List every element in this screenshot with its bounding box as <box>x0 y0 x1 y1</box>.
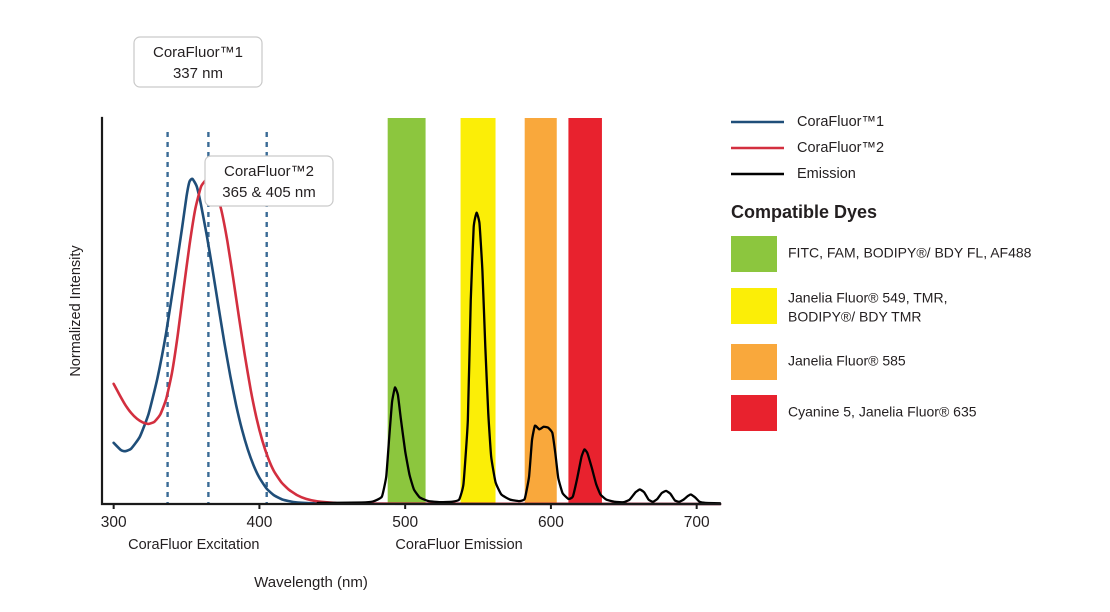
dye-swatch <box>731 236 777 272</box>
dye-item: Cyanine 5, Janelia Fluor® 635 <box>731 395 977 431</box>
dye-swatch <box>731 344 777 380</box>
callout-line1: CoraFluor™2 <box>224 163 314 180</box>
legend-item: CoraFluor™2 <box>731 140 884 156</box>
dye-swatch <box>731 288 777 324</box>
curve-emission <box>318 213 720 504</box>
dye-item: Janelia Fluor® 549, TMR,BODIPY®/ BDY TMR <box>731 288 947 325</box>
xtick-label-700: 700 <box>684 514 710 531</box>
callout-corafluor1: CoraFluor™1337 nm <box>134 37 262 87</box>
x-axis-title: Wavelength (nm) <box>254 574 368 591</box>
callout-line2: 337 nm <box>173 65 223 82</box>
xtick-label-600: 600 <box>538 514 564 531</box>
dye-item: FITC, FAM, BODIPY®/ BDY FL, AF488 <box>731 236 1032 272</box>
legend-label: CoraFluor™2 <box>797 140 884 156</box>
callout-corafluor2: CoraFluor™2365 & 405 nm <box>205 156 333 206</box>
legend-label: Emission <box>797 166 856 182</box>
legend-item: Emission <box>731 166 856 182</box>
region-label: CoraFluor Excitation <box>128 537 259 553</box>
dye-swatch <box>731 395 777 431</box>
region-label: CoraFluor Emission <box>395 537 522 553</box>
dye-label-line2: BODIPY®/ BDY TMR <box>788 309 922 325</box>
red-band <box>568 118 602 504</box>
bands-layer <box>388 118 602 504</box>
green-band <box>388 118 426 504</box>
dye-label-line1: Cyanine 5, Janelia Fluor® 635 <box>788 404 977 420</box>
callout-line1: CoraFluor™1 <box>153 44 243 61</box>
dye-label-line1: Janelia Fluor® 585 <box>788 353 906 369</box>
callout-line2: 365 & 405 nm <box>222 184 315 201</box>
spectra-chart: 300400500600700CoraFluor ExcitationCoraF… <box>0 0 1110 612</box>
dye-item: Janelia Fluor® 585 <box>731 344 906 380</box>
xtick-label-500: 500 <box>392 514 418 531</box>
dye-label-line1: Janelia Fluor® 549, TMR, <box>788 290 947 306</box>
annotations-layer: CoraFluor™1337 nmCoraFluor™2365 & 405 nm <box>134 37 333 206</box>
legend-label: CoraFluor™1 <box>797 114 884 130</box>
y-axis-title: Normalized Intensity <box>68 245 84 377</box>
dyes-layer: Compatible DyesFITC, FAM, BODIPY®/ BDY F… <box>731 202 1032 431</box>
xtick-label-300: 300 <box>101 514 127 531</box>
dye-label-line1: FITC, FAM, BODIPY®/ BDY FL, AF488 <box>788 245 1032 261</box>
xtick-label-400: 400 <box>246 514 272 531</box>
legend-layer: CoraFluor™1CoraFluor™2Emission <box>731 114 884 182</box>
orange-band <box>525 118 557 504</box>
compatible-dyes-heading: Compatible Dyes <box>731 202 877 222</box>
legend-item: CoraFluor™1 <box>731 114 884 130</box>
